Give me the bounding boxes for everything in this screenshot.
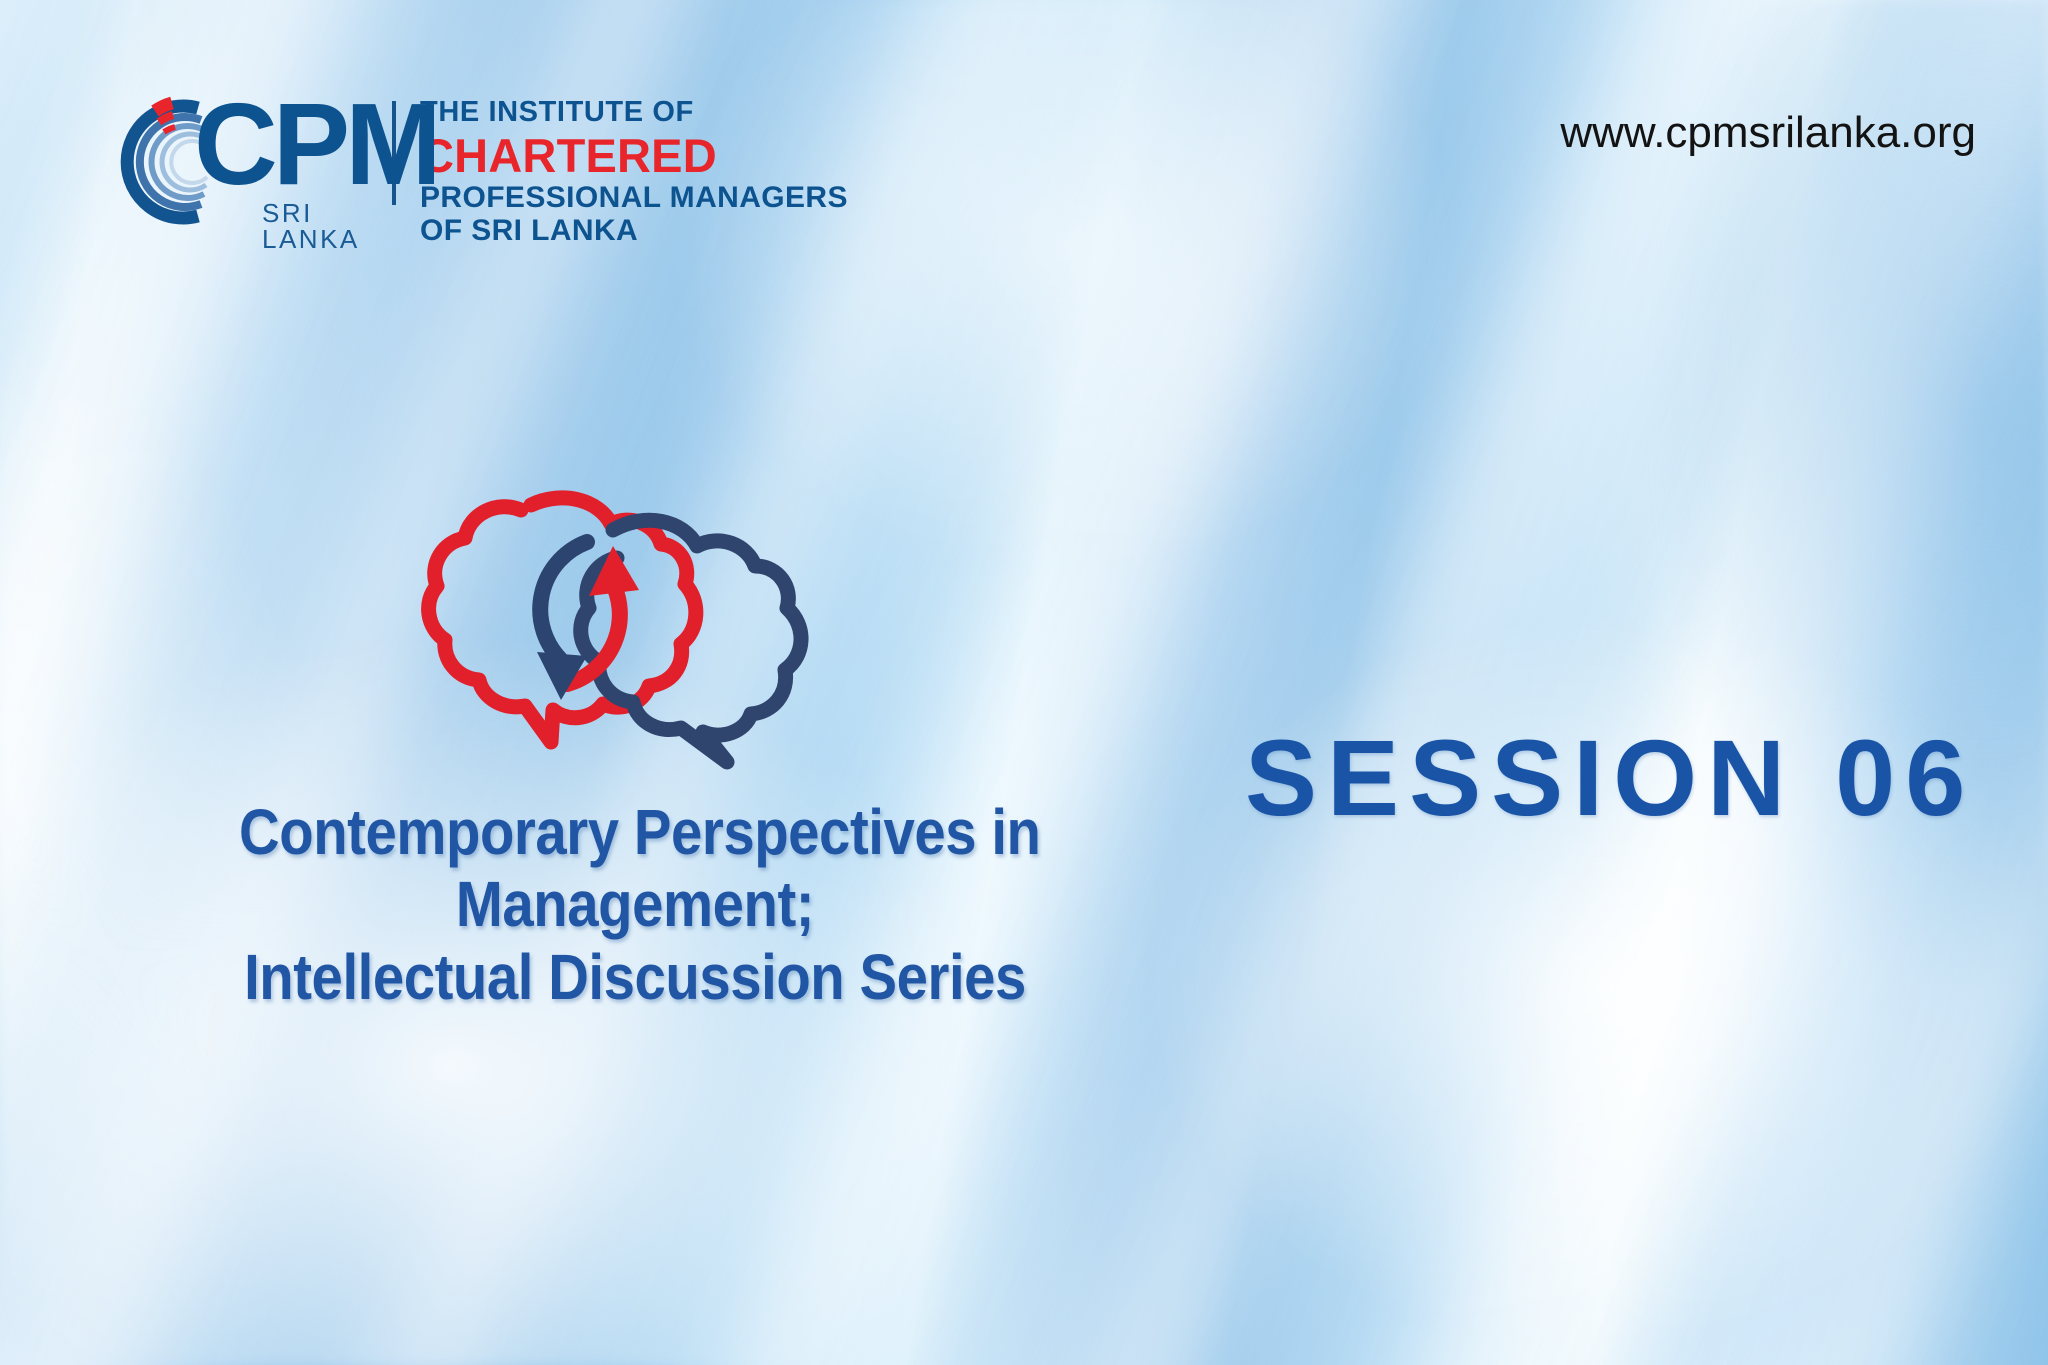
logo-line-professional: PROFESSIONAL MANAGERS — [420, 183, 848, 213]
speech-bubbles-exchange-icon — [355, 470, 915, 770]
logo-line-institute: THE INSTITUTE OF — [420, 98, 848, 127]
logo-wordmark: THE INSTITUTE OF CHARTERED PROFESSIONAL … — [420, 96, 848, 246]
cpm-letters: CPM — [194, 86, 437, 202]
series-title-line-3: Intellectual Discussion Series — [239, 941, 1031, 1013]
cpm-monogram: CPM SRI LANKA — [110, 96, 378, 228]
slide-canvas: CPM SRI LANKA THE INSTITUTE OF CHARTERED… — [0, 0, 2048, 1365]
series-title-line-1: Contemporary Perspectives in — [239, 796, 1031, 868]
cpm-logo: CPM SRI LANKA THE INSTITUTE OF CHARTERED… — [110, 96, 848, 246]
series-title-line-2: Management; — [239, 868, 1031, 940]
logo-line-chartered: CHARTERED — [420, 132, 848, 179]
logo-line-of-sri-lanka: OF SRI LANKA — [420, 216, 848, 246]
series-title: Contemporary Perspectives in Management;… — [239, 796, 1031, 1013]
cpm-sri-lanka-label: SRI LANKA — [262, 200, 378, 252]
website-url[interactable]: www.cpmsrilanka.org — [1560, 108, 1976, 158]
series-block: Contemporary Perspectives in Management;… — [185, 470, 1085, 1013]
session-label: SESSION 06 — [1245, 715, 1975, 840]
